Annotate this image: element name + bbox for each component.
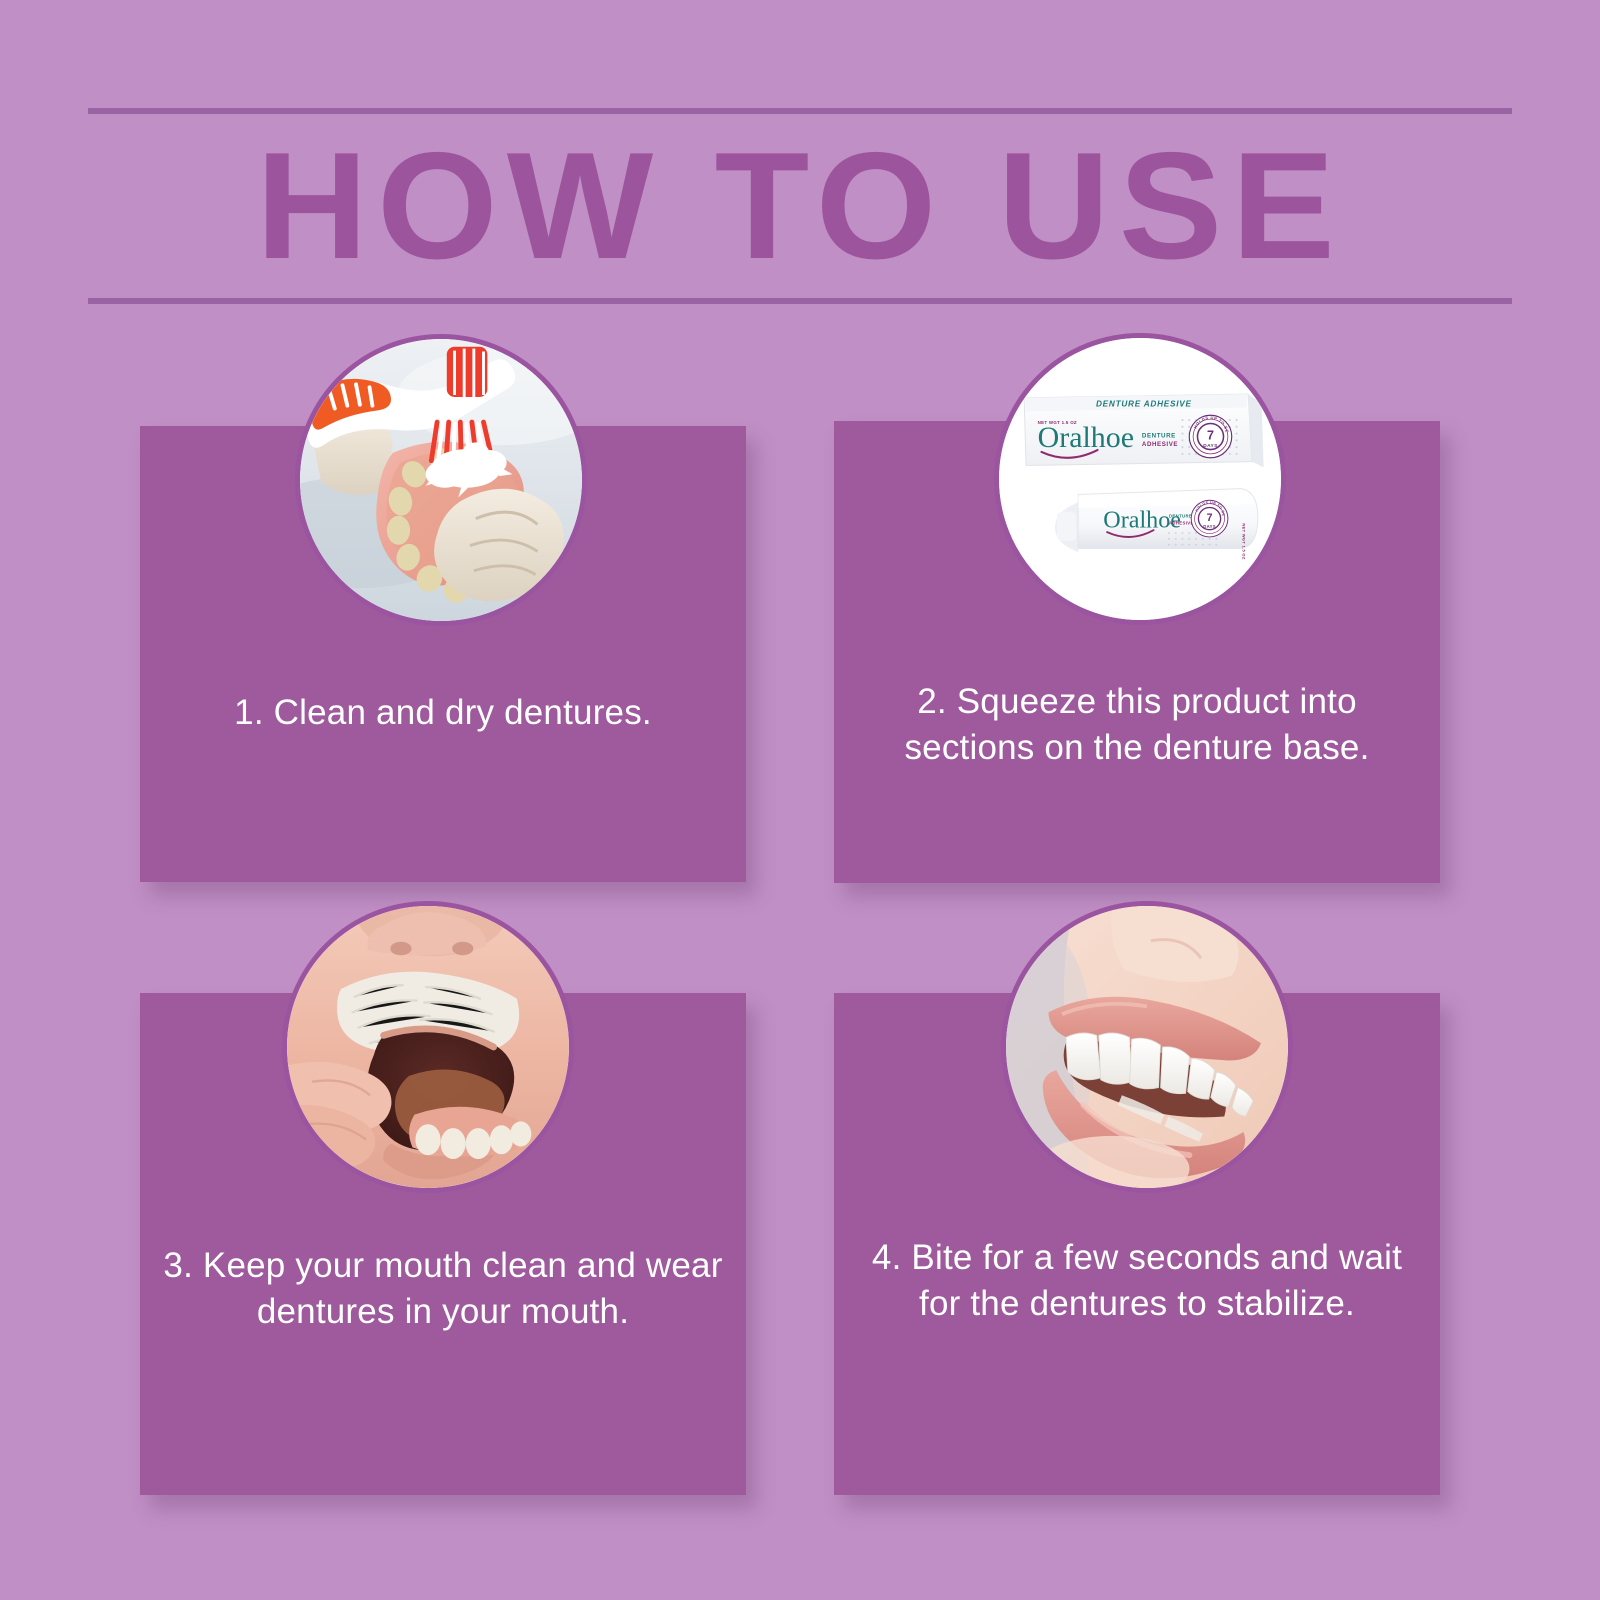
- svg-text:DAYS: DAYS: [1203, 524, 1216, 529]
- steps-grid: 1. Clean and dry dentures.: [0, 0, 1600, 1600]
- svg-text:DENTURE ADHESIVE: DENTURE ADHESIVE: [1096, 400, 1192, 409]
- inserting-denture-photo: [282, 901, 574, 1193]
- product-package-photo: DENTURE ADHESIVE NET WGT 1.5 OZ Oralhoe …: [994, 333, 1286, 625]
- svg-text:DAYS: DAYS: [1203, 443, 1218, 449]
- step-4-caption: 4. Bite for a few seconds and wait for t…: [852, 1235, 1422, 1327]
- svg-text:7: 7: [1207, 428, 1214, 442]
- step-2-card-body: DENTURE ADHESIVE NET WGT 1.5 OZ Oralhoe …: [834, 421, 1440, 883]
- svg-text:DENTURE: DENTURE: [1142, 432, 1176, 439]
- svg-text:Oralhoe: Oralhoe: [1038, 421, 1134, 454]
- svg-text:ADHESIVE: ADHESIVE: [1169, 520, 1194, 525]
- step-3-card-body: 3. Keep your mouth clean and wear dentur…: [140, 993, 746, 1495]
- denture-brushing-photo: [295, 334, 587, 626]
- step-4-card-body: 4. Bite for a few seconds and wait for t…: [834, 993, 1440, 1495]
- step-1-card-body: 1. Clean and dry dentures.: [140, 426, 746, 882]
- svg-text:NET WGT 1.5 OZ: NET WGT 1.5 OZ: [1241, 523, 1246, 559]
- svg-text:7: 7: [1207, 512, 1213, 524]
- smiling-teeth-photo: [1001, 901, 1293, 1193]
- svg-text:DENTURE: DENTURE: [1169, 514, 1192, 519]
- step-1-caption: 1. Clean and dry dentures.: [158, 690, 728, 736]
- step-2-caption: 2. Squeeze this product into sections on…: [852, 679, 1422, 771]
- step-card-3: 3. Keep your mouth clean and wear dentur…: [140, 993, 746, 1495]
- step-card-4: 4. Bite for a few seconds and wait for t…: [834, 993, 1440, 1495]
- step-3-caption: 3. Keep your mouth clean and wear dentur…: [158, 1243, 728, 1335]
- svg-text:ADHESIVE: ADHESIVE: [1142, 441, 1178, 448]
- step-card-1: 1. Clean and dry dentures.: [140, 426, 746, 882]
- step-card-2: DENTURE ADHESIVE NET WGT 1.5 OZ Oralhoe …: [834, 421, 1440, 883]
